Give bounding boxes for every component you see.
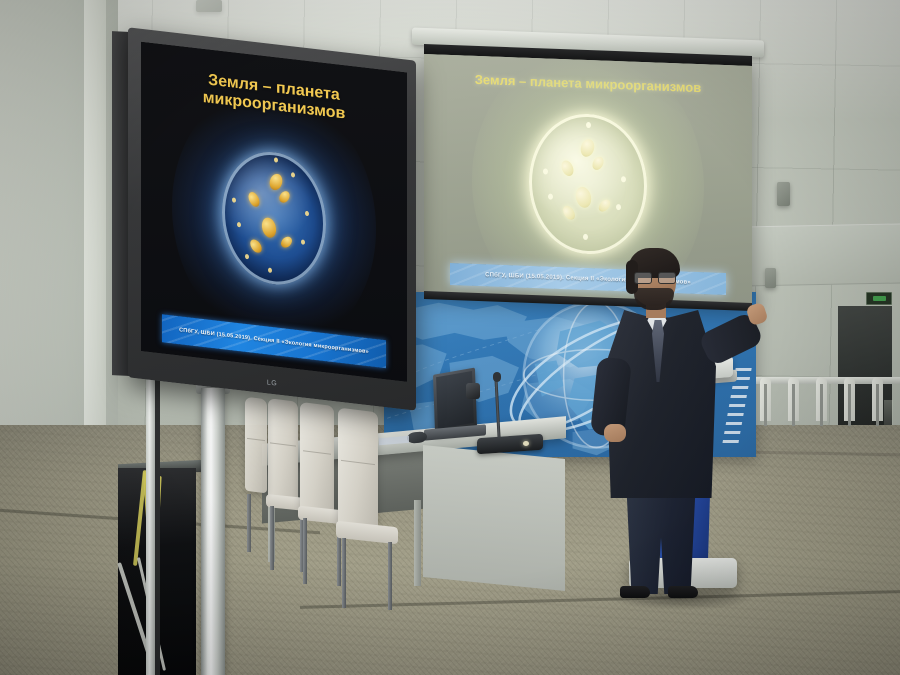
tv-stand-pole [201, 388, 225, 675]
cell-dot [621, 177, 626, 183]
cell-dot [548, 193, 553, 199]
exit-sign [866, 292, 892, 305]
wall-chair-leg [820, 384, 823, 426]
microphone-indicator-light [523, 441, 529, 446]
wall-speaker-upper [777, 182, 790, 206]
cell-dot [245, 254, 249, 259]
chair-backrest [245, 397, 267, 494]
wall-chair-leg [792, 384, 795, 426]
chair-backrest [300, 402, 334, 514]
wall-chair-leg [848, 384, 851, 426]
chair-leg [388, 542, 392, 610]
wall-left-column-edge [84, 0, 106, 470]
presenter-legs [620, 490, 702, 594]
presenter-beard [634, 288, 674, 310]
lcd-tv: Земля – планета микроорганизмов [128, 27, 416, 410]
presenter-shoe-right [668, 586, 698, 598]
desk-leg [414, 500, 421, 586]
tv-bezel: Земля – планета микроорганизмов [128, 27, 416, 410]
presenter-desk-front-panel [423, 445, 565, 591]
microorganism-cell-projected [529, 112, 647, 256]
microorganism-cell-tv [222, 146, 326, 290]
presenter-shoe-left [620, 586, 650, 598]
cell-dot [237, 221, 241, 226]
chair-leg [270, 506, 274, 570]
chair-leg [247, 494, 251, 552]
laptop-screen [436, 371, 474, 429]
chair-backrest [268, 398, 298, 502]
presenter [590, 248, 770, 600]
cell-dot [268, 267, 272, 272]
chair-leg [342, 538, 346, 608]
photo-scene: FU Земля – планета микроорганизмов [0, 0, 900, 675]
tv-screen: Земля – планета микроорганизмов [141, 42, 407, 382]
presenter-left-hand [604, 424, 626, 442]
wall-speaker-left [196, 0, 222, 12]
wall-chair-leg [876, 384, 879, 426]
chair-backrest [338, 408, 378, 531]
microphone-head [493, 372, 501, 382]
webcam [466, 383, 480, 399]
tv-slide: Земля – планета микроорганизмов [141, 42, 407, 382]
chair-leg [303, 518, 307, 584]
cell-dot [616, 204, 621, 210]
laptop [433, 367, 477, 434]
cell-dot [586, 122, 591, 128]
tv-stand-column-shadow [155, 378, 160, 675]
glasses-icon [634, 272, 676, 282]
tv-stand-column-left [146, 378, 155, 675]
slide-caption-text: СПбГУ, ШБИ (15.05.2019). Секция II «Экол… [179, 328, 369, 356]
tv-brand-label: LG [267, 379, 277, 387]
